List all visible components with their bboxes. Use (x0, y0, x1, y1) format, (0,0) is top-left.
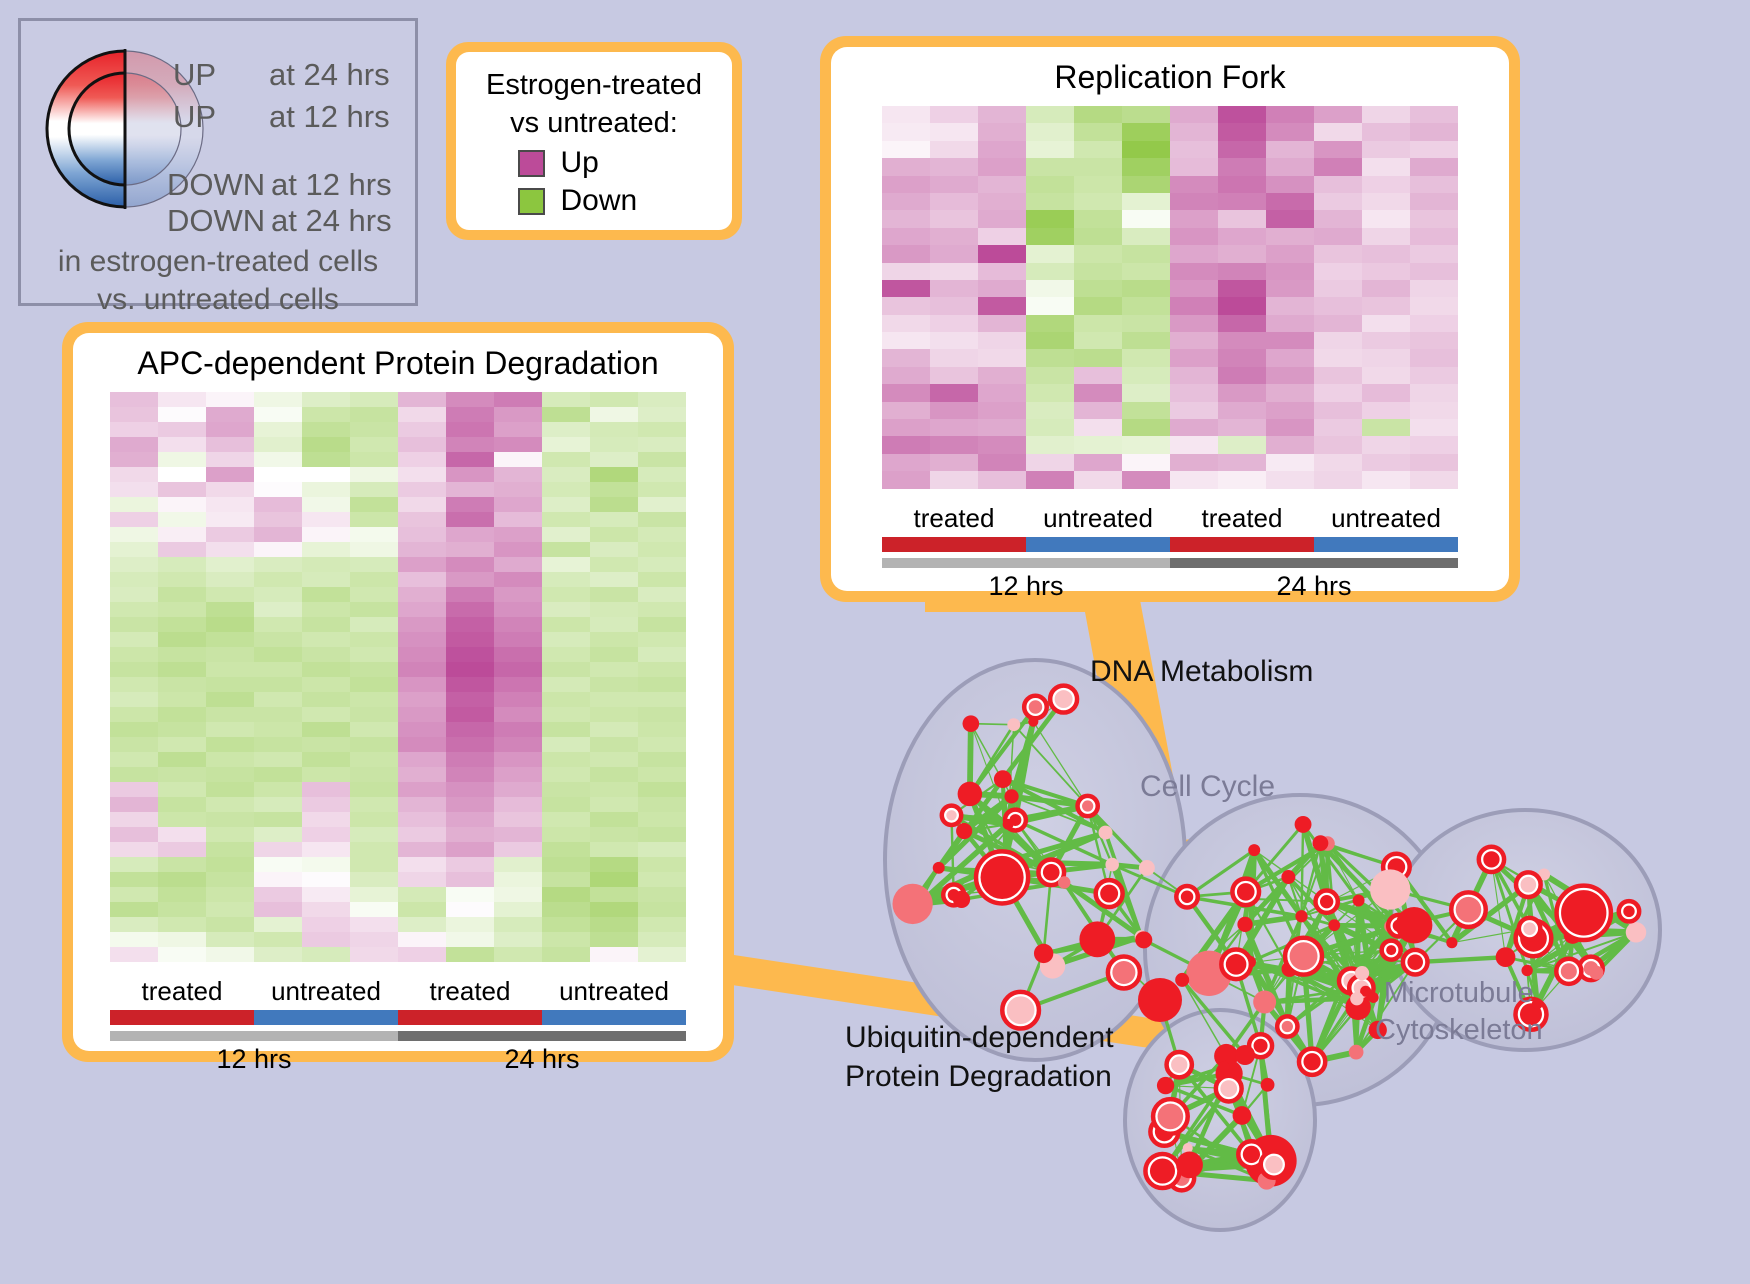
network-node[interactable] (1561, 890, 1606, 935)
heatmap-cell (206, 782, 254, 797)
heatmap-cell (1026, 158, 1074, 175)
heatmap-cell (494, 677, 542, 692)
heatmap-cell (1218, 384, 1266, 401)
heatmap-cell (254, 677, 302, 692)
heatmap-cell (590, 572, 638, 587)
heatmap-cell (1122, 228, 1170, 245)
network-node[interactable] (956, 823, 972, 839)
heatmap-cell (1218, 436, 1266, 453)
network-node[interactable] (1253, 991, 1276, 1014)
heatmap-cell (110, 737, 158, 752)
heatmap-cell (638, 737, 686, 752)
heatmap-cell (1218, 228, 1266, 245)
heatmap-cell (1362, 332, 1410, 349)
heatmap-cell (494, 452, 542, 467)
heatmap-cell (206, 752, 254, 767)
heatmap-cell (1410, 332, 1458, 349)
heatmap-cell (206, 662, 254, 677)
cluster-label-microtubule-cytoskeleton: Microtubule Cytoskeleton (1375, 975, 1543, 1049)
heatmap-cell (302, 872, 350, 887)
network-node[interactable] (1626, 922, 1646, 942)
heatmap-cell (302, 452, 350, 467)
heatmap-cell (930, 158, 978, 175)
time-seg-12 (110, 1031, 398, 1041)
heatmap-cell (1410, 106, 1458, 123)
heatmap-cell (206, 677, 254, 692)
treatment-label: treated (1170, 503, 1314, 534)
heatmap-cell (350, 662, 398, 677)
heatmap-cell (1218, 332, 1266, 349)
heatmap-cell (590, 797, 638, 812)
heatmap-cell (398, 707, 446, 722)
heatmap-cell (638, 557, 686, 572)
heatmap-cell (1314, 210, 1362, 227)
network-node[interactable] (1456, 897, 1482, 923)
heatmap-cell (882, 454, 930, 471)
heatmap-cell (542, 437, 590, 452)
heatmap-cell (638, 677, 686, 692)
heatmap-cell (158, 602, 206, 617)
heatmap-apc (110, 392, 686, 962)
network-node[interactable] (1158, 1104, 1184, 1130)
heatmap-cell (1026, 141, 1074, 158)
heatmap-cell (350, 842, 398, 857)
network-node[interactable] (1007, 718, 1020, 731)
heatmap-cell (542, 947, 590, 962)
network-node[interactable] (1003, 819, 1014, 830)
time-colour-bar (110, 1031, 686, 1041)
heatmap-cell (1314, 141, 1362, 158)
heatmap-cell (302, 677, 350, 692)
heatmap-cell (158, 797, 206, 812)
heatmap-cell (1410, 471, 1458, 488)
heatmap-cell (1026, 419, 1074, 436)
heatmap-cell (446, 737, 494, 752)
heatmap-cell (638, 602, 686, 617)
heatmap-cell (930, 245, 978, 262)
heatmap-cell (1170, 297, 1218, 314)
network-node[interactable] (1082, 800, 1093, 811)
network-node[interactable] (1150, 1158, 1175, 1183)
heatmap-cell (494, 617, 542, 632)
heatmap-cell (542, 572, 590, 587)
network-node[interactable] (1004, 789, 1018, 803)
heatmap-cell (978, 193, 1026, 210)
heatmap-cell (590, 647, 638, 662)
cluster-label-cell-cycle: Cell Cycle (1140, 770, 1275, 804)
network-node[interactable] (933, 862, 945, 874)
heatmap-cell (446, 677, 494, 692)
heatmap-cell (398, 752, 446, 767)
heatmap-cell (254, 947, 302, 962)
heatmap-cell (446, 497, 494, 512)
heatmap-cell (930, 384, 978, 401)
network-node[interactable] (1029, 700, 1043, 714)
heatmap-cell (590, 662, 638, 677)
heatmap-cell (590, 692, 638, 707)
heatmap-cell (110, 407, 158, 422)
heatmap-cell (302, 437, 350, 452)
heatmap-cell (590, 632, 638, 647)
network-node[interactable] (1220, 1080, 1237, 1097)
heatmap-cell (590, 497, 638, 512)
heatmap-cell (158, 857, 206, 872)
heatmap-cell (206, 932, 254, 947)
network-node[interactable] (1313, 835, 1329, 851)
network-node[interactable] (1265, 1156, 1282, 1173)
heatmap-cell (1362, 436, 1410, 453)
heatmap-cell (254, 722, 302, 737)
heatmap-cell (1362, 106, 1410, 123)
heatmap-cell (350, 872, 398, 887)
heatmap-cell (1362, 141, 1410, 158)
network-node[interactable] (1328, 919, 1340, 931)
network-node[interactable] (1396, 907, 1433, 944)
heatmap-cell (494, 932, 542, 947)
heatmap-cell (1266, 349, 1314, 366)
heatmap-cell (930, 436, 978, 453)
network-node[interactable] (1138, 978, 1182, 1022)
network-node[interactable] (1139, 860, 1155, 876)
heatmap-cell (302, 767, 350, 782)
network-node[interactable] (1355, 966, 1369, 980)
network-node[interactable] (1303, 1053, 1320, 1070)
legend-title-line1: Estrogen-treated (468, 66, 720, 104)
heatmap-cell (590, 617, 638, 632)
network-node[interactable] (1320, 895, 1333, 908)
heatmap-cell (1410, 384, 1458, 401)
heatmap-cell (110, 902, 158, 917)
network-node[interactable] (1261, 1078, 1275, 1092)
network-node[interactable] (1183, 1143, 1193, 1153)
heatmap-cell (1122, 419, 1170, 436)
heatmap-cell (494, 497, 542, 512)
heatmap-cell (302, 812, 350, 827)
heatmap-cell (110, 857, 158, 872)
heatmap-cell (1362, 419, 1410, 436)
heatmap-cell (350, 617, 398, 632)
heatmap-cell (638, 422, 686, 437)
heatmap-cell (446, 842, 494, 857)
network-node[interactable] (1079, 921, 1115, 957)
network-node[interactable] (1176, 1152, 1203, 1179)
heatmap-cell (542, 527, 590, 542)
network-node[interactable] (958, 782, 983, 807)
heatmap-cell (254, 647, 302, 662)
network-node[interactable] (1295, 910, 1307, 922)
heatmap-cell (302, 407, 350, 422)
heatmap-cell (206, 767, 254, 782)
heatmap-cell (1074, 419, 1122, 436)
network-node[interactable] (1157, 1077, 1174, 1094)
heatmap-cell (302, 947, 350, 962)
legend-item-up: Up (468, 146, 720, 180)
heatmap-cell (398, 647, 446, 662)
heatmap-cell (1074, 349, 1122, 366)
network-node[interactable] (1295, 816, 1312, 833)
heatmap-cell (1218, 419, 1266, 436)
heatmap-cell (350, 692, 398, 707)
legend-item-down: Down (468, 184, 720, 218)
heatmap-cell (542, 797, 590, 812)
heatmap-cell (590, 752, 638, 767)
network-node[interactable] (1521, 877, 1537, 893)
heatmap-cell (494, 587, 542, 602)
heatmap-cell (302, 602, 350, 617)
heatmap-cell (638, 797, 686, 812)
heatmap-cell (1266, 245, 1314, 262)
ub-line2: Protein Degradation (845, 1057, 1114, 1096)
network-node[interactable] (1282, 1021, 1293, 1032)
network-node[interactable] (1349, 1045, 1364, 1060)
heatmap-cell (206, 857, 254, 872)
heatmap-cell (350, 947, 398, 962)
heatmap-cell (1218, 158, 1266, 175)
heatmap-cell (1362, 315, 1410, 332)
heatmap-cell (350, 902, 398, 917)
bar-seg-treated-24 (1170, 537, 1314, 552)
network-node[interactable] (1386, 945, 1396, 955)
heatmap-cell (158, 422, 206, 437)
heatmap-cell (1026, 402, 1074, 419)
heatmap-cell (254, 497, 302, 512)
heatmap-cell (1170, 436, 1218, 453)
heatmap-cell (206, 482, 254, 497)
heatmap-cell (1314, 176, 1362, 193)
heatmap-cell (542, 857, 590, 872)
heatmap-cell (638, 917, 686, 932)
heatmap-cell (254, 467, 302, 482)
heatmap-cell (1266, 106, 1314, 123)
network-node[interactable] (1290, 942, 1318, 970)
network-node[interactable] (1243, 1146, 1260, 1163)
heatmap-cell (638, 767, 686, 782)
heatmap-cell (206, 947, 254, 962)
heatmap-cell (110, 557, 158, 572)
heatmap-cell (350, 467, 398, 482)
network-node[interactable] (1034, 944, 1053, 963)
heatmap-cell (542, 482, 590, 497)
heatmap-cell (350, 812, 398, 827)
heatmap-cell (1170, 158, 1218, 175)
network-node[interactable] (1043, 864, 1060, 881)
heatmap-cell (350, 932, 398, 947)
heatmap-cell (254, 857, 302, 872)
heatmap-cell (1026, 210, 1074, 227)
key-time: at 24 hrs (271, 203, 392, 238)
heatmap-cell (978, 384, 1026, 401)
network-node[interactable] (1226, 954, 1247, 975)
network-node[interactable] (1235, 1045, 1255, 1065)
network-node[interactable] (1055, 690, 1073, 708)
network-node[interactable] (1099, 826, 1113, 840)
heatmap-cell (158, 707, 206, 722)
heatmap-cell (590, 857, 638, 872)
heatmap-cell (350, 797, 398, 812)
heatmap-cell (542, 497, 590, 512)
heatmap-cell (542, 737, 590, 752)
heatmap-cell (110, 572, 158, 587)
heatmap-cell (1218, 123, 1266, 140)
heatmap-cell (206, 797, 254, 812)
network-node[interactable] (981, 856, 1024, 899)
heatmap-cell (302, 782, 350, 797)
heatmap-cell (254, 527, 302, 542)
network-node[interactable] (1237, 883, 1255, 901)
treatment-label: treated (882, 503, 1026, 534)
heatmap-cell (1362, 176, 1410, 193)
heatmap-cell (1314, 280, 1362, 297)
heatmap-cell (1362, 228, 1410, 245)
network-node[interactable] (1233, 1106, 1252, 1125)
heatmap-cell (1314, 332, 1362, 349)
heatmap-cell (930, 402, 978, 419)
heatmap-cell (1170, 367, 1218, 384)
heatmap-cell (1074, 158, 1122, 175)
heatmap-cell (446, 407, 494, 422)
heatmap-cell (110, 797, 158, 812)
heatmap-cell (302, 557, 350, 572)
heatmap-cell (350, 887, 398, 902)
heatmap-cell (930, 454, 978, 471)
heatmap-cell (494, 902, 542, 917)
network-node[interactable] (1237, 917, 1252, 932)
heatmap-cell (254, 767, 302, 782)
time-labels: 12 hrs 24 hrs (882, 571, 1458, 602)
network-node[interactable] (963, 715, 980, 732)
heatmap-cell (446, 662, 494, 677)
heatmap-cell (446, 947, 494, 962)
key-row-up-24: UPat 24 hrs (173, 57, 390, 93)
time-colour-bar (882, 558, 1458, 568)
network-node[interactable] (1446, 937, 1457, 948)
heatmap-cell (254, 752, 302, 767)
heatmap-cell (1218, 210, 1266, 227)
heatmap-cell (882, 106, 930, 123)
heatmap-cell (110, 587, 158, 602)
heatmap-cell (1122, 315, 1170, 332)
heatmap-cell (398, 947, 446, 962)
heatmap-cell (110, 452, 158, 467)
heatmap-cell (882, 332, 930, 349)
heatmap-cell (350, 542, 398, 557)
heatmap-cell (1122, 402, 1170, 419)
heatmap-cell (446, 932, 494, 947)
heatmap-cell (1218, 176, 1266, 193)
heatmap-cell (398, 887, 446, 902)
heatmap-cell (350, 422, 398, 437)
heatmap-cell (1074, 193, 1122, 210)
network-node[interactable] (1623, 906, 1634, 917)
heatmap-cell (1074, 141, 1122, 158)
key-footer-line2: vs. untreated cells (21, 281, 415, 319)
network-node[interactable] (1589, 966, 1603, 980)
network-node[interactable] (1254, 1039, 1268, 1053)
heatmap-cell (1026, 193, 1074, 210)
network-node[interactable] (953, 891, 970, 908)
heatmap-cell (206, 917, 254, 932)
network-node[interactable] (1181, 891, 1193, 903)
network-node[interactable] (1100, 885, 1118, 903)
network-node[interactable] (946, 810, 956, 820)
network-node[interactable] (892, 884, 932, 924)
heatmap-cell (638, 902, 686, 917)
heatmap-cell (978, 471, 1026, 488)
network-node[interactable] (1175, 973, 1189, 987)
heatmap-cell (930, 263, 978, 280)
network-node[interactable] (1058, 876, 1070, 888)
heatmap-cell (110, 632, 158, 647)
network-node[interactable] (1353, 895, 1365, 907)
network-node[interactable] (994, 770, 1012, 788)
heatmap-cell (542, 902, 590, 917)
network-node[interactable] (1281, 870, 1295, 884)
heatmap-cell (882, 228, 930, 245)
heatmap-cell (158, 662, 206, 677)
network-node[interactable] (1135, 931, 1152, 948)
key-footer: in estrogen-treated cells vs. untreated … (21, 243, 415, 319)
network-node[interactable] (1112, 961, 1135, 984)
network-node[interactable] (1248, 844, 1260, 856)
network-node[interactable] (1407, 954, 1423, 970)
heatmap-cell (446, 617, 494, 632)
heatmap-cell (1074, 106, 1122, 123)
network-node[interactable] (1523, 922, 1536, 935)
heatmap-cell (494, 602, 542, 617)
up-swatch-icon (518, 150, 545, 177)
heatmap-cell (1170, 384, 1218, 401)
heatmap-cell (978, 245, 1026, 262)
heatmap-cell (1314, 349, 1362, 366)
heatmap-cell (446, 542, 494, 557)
network-node[interactable] (1483, 851, 1499, 867)
heatmap-cell (542, 542, 590, 557)
heatmap-cell (1410, 419, 1458, 436)
heatmap-cell (1122, 367, 1170, 384)
network-node[interactable] (1171, 1057, 1187, 1073)
network-node[interactable] (1561, 963, 1577, 979)
heatmap-cell (446, 707, 494, 722)
network-node[interactable] (1496, 947, 1516, 967)
heatmap-cell (446, 467, 494, 482)
heatmap-cell (1266, 471, 1314, 488)
network-node[interactable] (1370, 869, 1410, 909)
heatmap-cell (542, 872, 590, 887)
heatmap-cell (590, 767, 638, 782)
heatmap-cell (882, 402, 930, 419)
heatmap-cell (882, 436, 930, 453)
heatmap-cell (158, 812, 206, 827)
heatmap-cell (978, 349, 1026, 366)
heatmap-cell (638, 452, 686, 467)
heatmap-cell (1314, 245, 1362, 262)
network-node[interactable] (1350, 992, 1363, 1005)
heatmap-cell (1026, 123, 1074, 140)
heatmap-cell (930, 176, 978, 193)
heatmap-cell (206, 707, 254, 722)
heatmap-cell (494, 737, 542, 752)
treatment-labels: treated untreated treated untreated (110, 976, 686, 1007)
network-node[interactable] (1218, 1061, 1229, 1072)
heatmap-cell (446, 872, 494, 887)
heatmap-cell (1314, 454, 1362, 471)
heatmap-cell (446, 452, 494, 467)
heatmap-cell (978, 158, 1026, 175)
heatmap-cell (1218, 471, 1266, 488)
heatmap-cell (158, 512, 206, 527)
heatmap-cell (542, 662, 590, 677)
network-node[interactable] (1105, 858, 1119, 872)
